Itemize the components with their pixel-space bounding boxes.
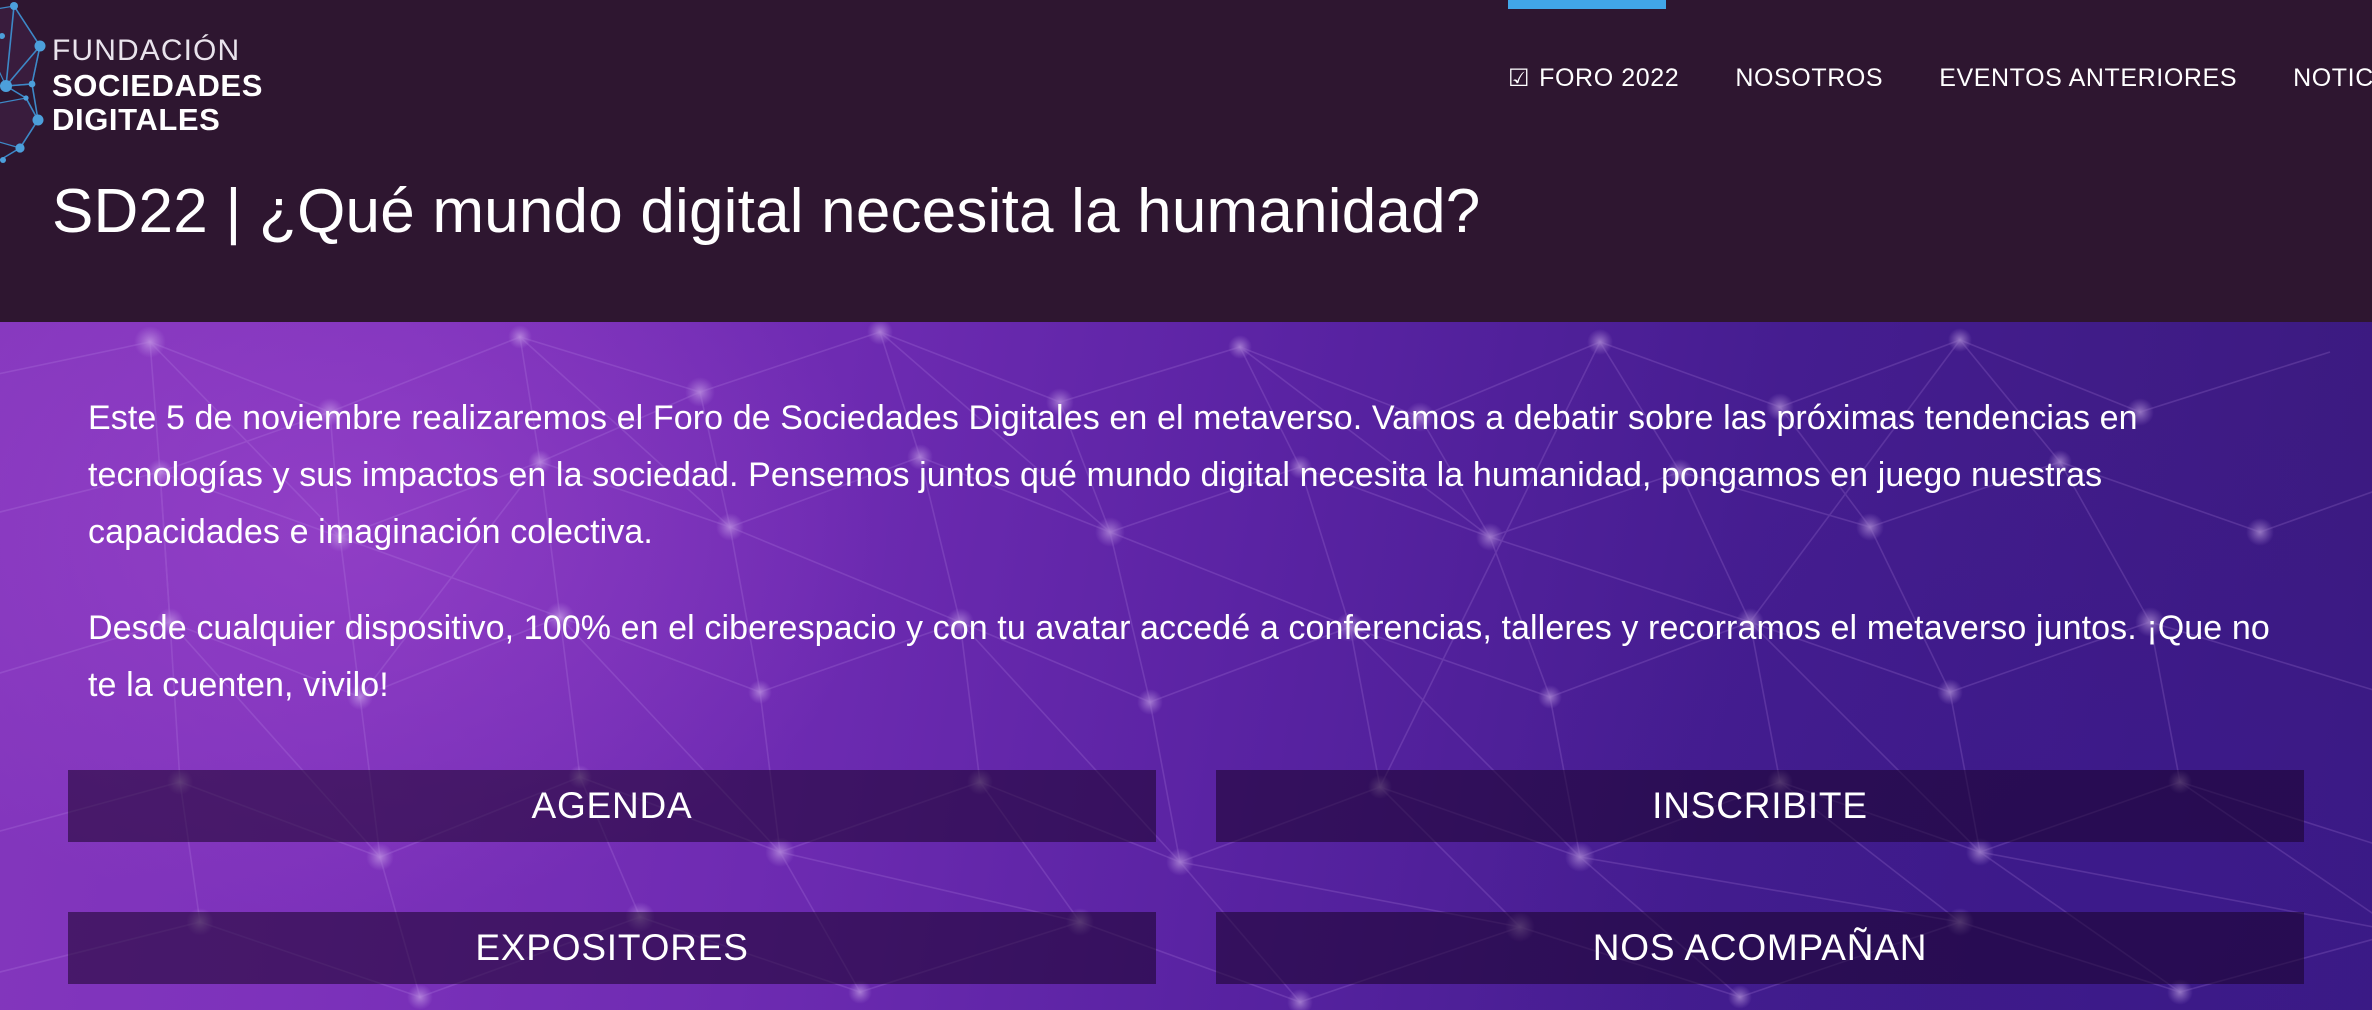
- page-title: SD22 | ¿Qué mundo digital necesita la hu…: [52, 176, 1480, 247]
- site-header: FUNDACIÓN SOCIEDADES DIGITALES ☑ FORO 20…: [0, 0, 2372, 322]
- hero-content: Este 5 de noviembre realizaremos el Foro…: [0, 322, 2372, 1010]
- brand-line-fundacion: FUNDACIÓN: [52, 36, 263, 66]
- hero-paragraph-1: Este 5 de noviembre realizaremos el Foro…: [88, 390, 2298, 561]
- cta-button-row-2: EXPOSITORES NOS ACOMPAÑAN: [68, 912, 2304, 984]
- paragraph-1-before-link: Este 5 de noviembre realizaremos el: [88, 399, 653, 437]
- nav-item-eventos-anteriores[interactable]: EVENTOS ANTERIORES: [1939, 60, 2237, 97]
- cta-button-row-1: AGENDA INSCRIBITE: [68, 770, 2304, 842]
- nos-acompanan-button[interactable]: NOS ACOMPAÑAN: [1216, 912, 2304, 984]
- checked-checkbox-icon: ☑: [1508, 67, 1530, 91]
- expositores-button[interactable]: EXPOSITORES: [68, 912, 1156, 984]
- nav-item-nosotros[interactable]: NOSOTROS: [1735, 60, 1883, 97]
- cta-button-grid: AGENDA INSCRIBITE EXPOSITORES NOS ACOMPA…: [68, 770, 2304, 984]
- active-nav-indicator: [1508, 0, 1666, 9]
- brand-line-digitales: DIGITALES: [52, 104, 263, 135]
- foro-link[interactable]: Foro de Sociedades Digitales: [653, 399, 1100, 437]
- nav-item-label: FORO 2022: [1539, 64, 1679, 93]
- nav-item-label: NOTICIAS: [2293, 64, 2372, 93]
- nav-item-foro-2022[interactable]: ☑ FORO 2022: [1508, 60, 1679, 97]
- brand-logo[interactable]: FUNDACIÓN SOCIEDADES DIGITALES: [52, 36, 263, 138]
- nav-item-label: NOSOTROS: [1735, 64, 1883, 93]
- hero-paragraph-2: Desde cualquier dispositivo, 100% en el …: [88, 600, 2298, 714]
- agenda-button[interactable]: AGENDA: [68, 770, 1156, 842]
- main-navigation: ☑ FORO 2022 NOSOTROS EVENTOS ANTERIORES …: [1508, 60, 2372, 97]
- nav-item-label: EVENTOS ANTERIORES: [1939, 64, 2237, 93]
- brand-line-sociedades: SOCIEDADES: [52, 70, 263, 101]
- nav-item-noticias[interactable]: NOTICIAS: [2293, 60, 2372, 97]
- hero-section: Este 5 de noviembre realizaremos el Foro…: [0, 322, 2372, 1010]
- page-root: FUNDACIÓN SOCIEDADES DIGITALES ☑ FORO 20…: [0, 0, 2372, 1010]
- inscribite-button[interactable]: INSCRIBITE: [1216, 770, 2304, 842]
